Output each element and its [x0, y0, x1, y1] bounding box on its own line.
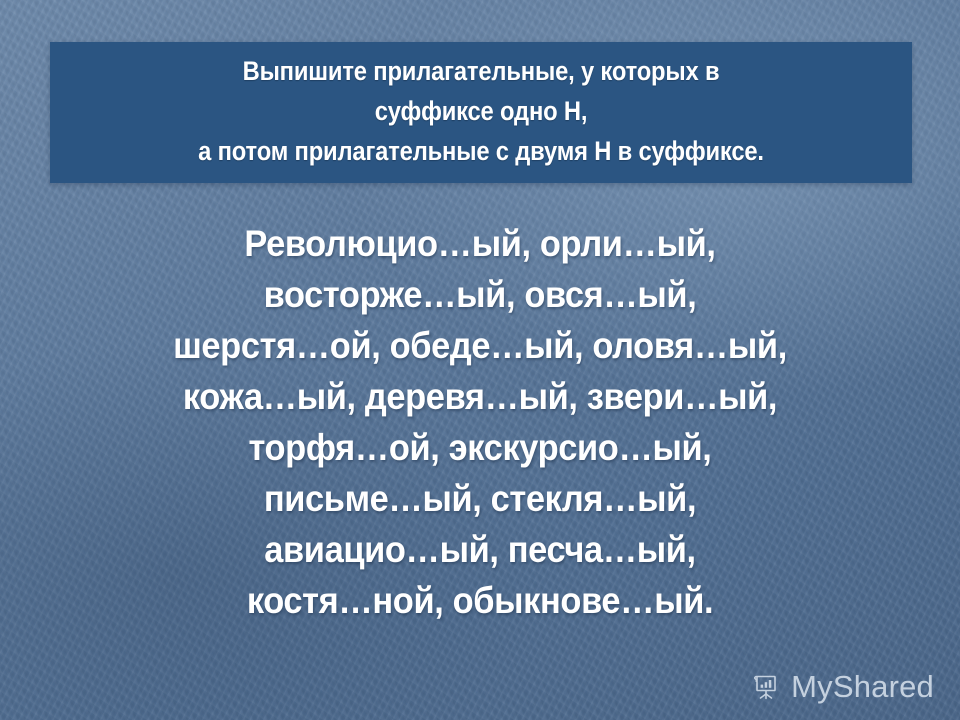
adjective-line-6: письме…ый, стекля…ый,	[34, 473, 927, 524]
title-text-block: Выпишите прилагательные, у которых в суф…	[102, 51, 861, 171]
presentation-chart-icon	[750, 670, 782, 702]
adjective-line-1: Революцио…ый, орли…ый,	[34, 218, 927, 269]
adjective-line-2: восторже…ый, овся…ый,	[34, 269, 927, 320]
title-line-2: суффиксе одно Н,	[102, 91, 861, 131]
title-banner: Выпишите прилагательные, у которых в суф…	[50, 42, 912, 183]
adjective-line-7: авиацио…ый, песча…ый,	[34, 524, 927, 575]
adjective-line-4: кожа…ый, деревя…ый, звери…ый,	[34, 371, 927, 422]
title-line-3: а потом прилагательные с двумя Н в суффи…	[102, 131, 861, 171]
adjective-line-8: костя…ной, обыкнове…ый.	[34, 575, 927, 626]
adjective-line-5: торфя…ой, экскурсио…ый,	[34, 422, 927, 473]
slide-canvas: Выпишите прилагательные, у которых в суф…	[0, 0, 960, 720]
myshared-label: MyShared	[791, 671, 934, 702]
adjective-list: Революцио…ый, орли…ый, восторже…ый, овся…	[34, 218, 927, 626]
myshared-watermark[interactable]: MyShared	[750, 670, 934, 702]
title-line-1: Выпишите прилагательные, у которых в	[102, 51, 861, 91]
adjective-line-3: шерстя…ой, обеде…ый, оловя…ый,	[34, 320, 927, 371]
